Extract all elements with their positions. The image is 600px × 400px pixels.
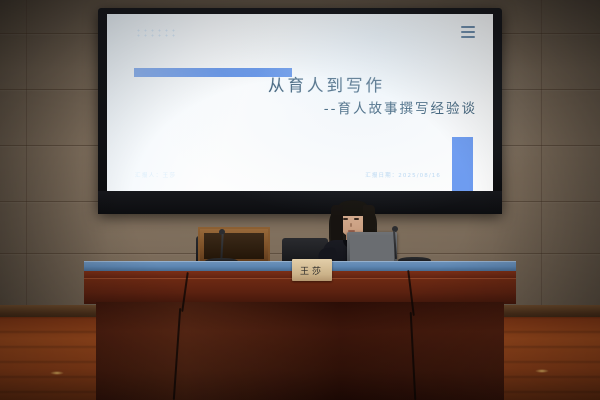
name-placard: 王莎	[292, 259, 332, 281]
eye-right	[354, 218, 359, 220]
floor-highlight	[535, 369, 549, 373]
blue-accent-block	[452, 137, 473, 191]
name-placard-text: 王莎	[300, 264, 324, 277]
slide-title: 从育人到写作	[107, 76, 493, 97]
desk-sheen	[96, 302, 504, 400]
eye-left	[343, 218, 348, 220]
presentation-screen[interactable]: 从育人到写作 --育人故事撰写经验谈 汇报人：王莎 汇报日期：2025/08/1…	[107, 14, 493, 191]
dot-grid-icon	[135, 28, 179, 39]
wall-joint	[26, 0, 27, 316]
screen-lower-bezel	[98, 191, 502, 214]
wall-joint	[541, 0, 542, 316]
hamburger-icon[interactable]	[461, 26, 475, 38]
slide-presenter-label: 汇报人：王莎	[135, 171, 176, 179]
slide-title-group: 从育人到写作 --育人故事撰写经验谈	[107, 76, 493, 118]
slide-subtitle: --育人故事撰写经验谈	[107, 101, 493, 119]
nose	[350, 223, 352, 227]
slide-date-label: 汇报日期：2025/08/16	[365, 171, 441, 179]
desk-front-trim	[84, 278, 516, 304]
conference-room-scene: 从育人到写作 --育人故事撰写经验谈 汇报人：王莎 汇报日期：2025/08/1…	[0, 0, 600, 400]
wood-panel-inset	[204, 233, 264, 259]
floor-highlight	[50, 371, 64, 375]
